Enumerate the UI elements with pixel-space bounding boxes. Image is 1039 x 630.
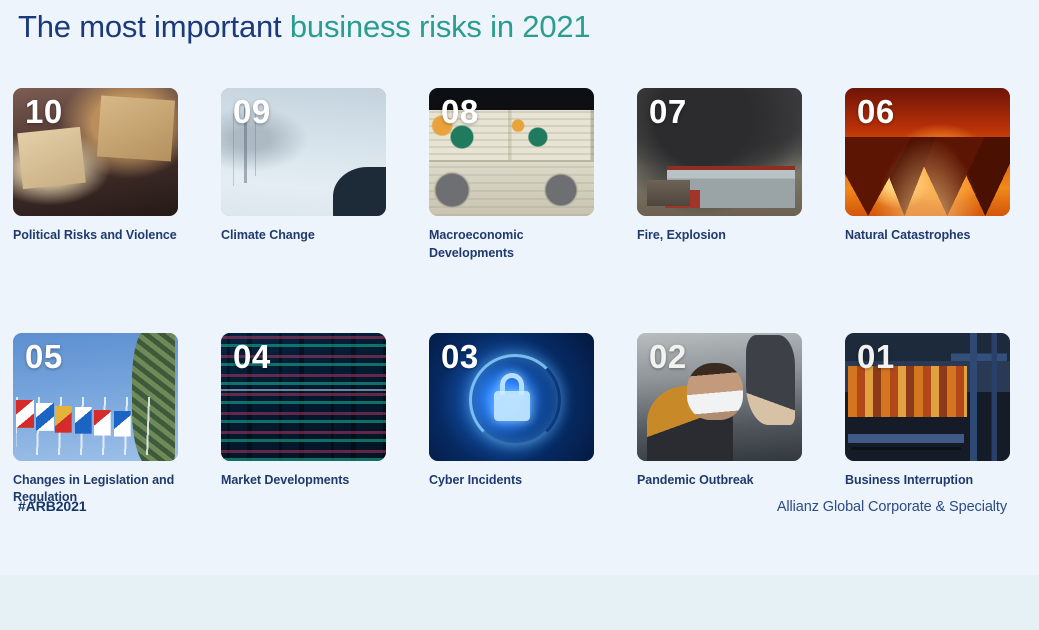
risk-rank-number: 04	[233, 336, 271, 377]
commuter-arm-shape	[746, 335, 796, 425]
risk-card-thumbnail[interactable]: 06	[845, 88, 1010, 216]
risk-card-thumbnail[interactable]: 03	[429, 333, 594, 461]
risk-card-thumbnail[interactable]: 04	[221, 333, 386, 461]
risk-card-label: Cyber Incidents	[429, 472, 594, 490]
risk-card-thumbnail[interactable]: 09	[221, 88, 386, 216]
risk-rank-number: 01	[857, 336, 895, 377]
risk-rank-number: 05	[25, 336, 63, 377]
ship-deck-shape	[848, 434, 964, 443]
risk-card-grid: 10Political Risks and Violence09Climate …	[13, 88, 1027, 507]
risk-card-label: Natural Catastrophes	[845, 227, 1010, 245]
risk-rank-number: 06	[857, 91, 895, 132]
page-title-primary: The most important	[18, 9, 290, 44]
risk-card-thumbnail[interactable]: 07	[637, 88, 802, 216]
risk-card-label: Fire, Explosion	[637, 227, 802, 245]
risk-card-label: Pandemic Outbreak	[637, 472, 802, 490]
risk-card[interactable]: 08Macroeconomic Developments	[429, 88, 594, 263]
footer-hashtag: #ARB2021	[18, 498, 86, 514]
risk-card-thumbnail[interactable]: 02	[637, 333, 802, 461]
risk-rank-number: 10	[25, 91, 63, 132]
risk-rank-number: 07	[649, 91, 687, 132]
risk-card-label: Market Developments	[221, 472, 386, 490]
risk-card-label: Climate Change	[221, 227, 386, 245]
risk-card-thumbnail[interactable]: 01	[845, 333, 1010, 461]
risk-card[interactable]: 07Fire, Explosion	[637, 88, 802, 263]
risk-card[interactable]: 05Changes in Legislation and Regulation	[13, 333, 178, 508]
risk-card-label: Business Interruption	[845, 472, 1010, 490]
risk-card[interactable]: 01Business Interruption	[845, 333, 1010, 508]
page-title-accent: business risks in 2021	[290, 9, 591, 44]
risk-card-label: Political Risks and Violence	[13, 227, 178, 245]
risk-card-thumbnail[interactable]: 10	[13, 88, 178, 216]
risk-rank-number: 09	[233, 91, 271, 132]
risk-card[interactable]: 10Political Risks and Violence	[13, 88, 178, 263]
risk-card-label: Macroeconomic Developments	[429, 227, 594, 263]
footer-brand: Allianz Global Corporate & Specialty	[777, 499, 1007, 515]
padlock-shackle-icon	[500, 373, 524, 395]
risk-card[interactable]: 06Natural Catastrophes	[845, 88, 1010, 263]
risk-card[interactable]: 02Pandemic Outbreak	[637, 333, 802, 508]
risk-rank-number: 03	[441, 336, 479, 377]
risk-rank-number: 02	[649, 336, 687, 377]
risk-rank-number: 08	[441, 91, 479, 132]
page-title: The most important business risks in 202…	[18, 4, 590, 50]
risk-card[interactable]: 09Climate Change	[221, 88, 386, 263]
risk-card[interactable]: 03Cyber Incidents	[429, 333, 594, 508]
footer: #ARB2021 Allianz Global Corporate & Spec…	[18, 498, 1007, 515]
risk-card-thumbnail[interactable]: 08	[429, 88, 594, 216]
risk-card[interactable]: 04Market Developments	[221, 333, 386, 508]
risk-card-thumbnail[interactable]: 05	[13, 333, 178, 461]
bottom-color-band	[0, 575, 1039, 630]
